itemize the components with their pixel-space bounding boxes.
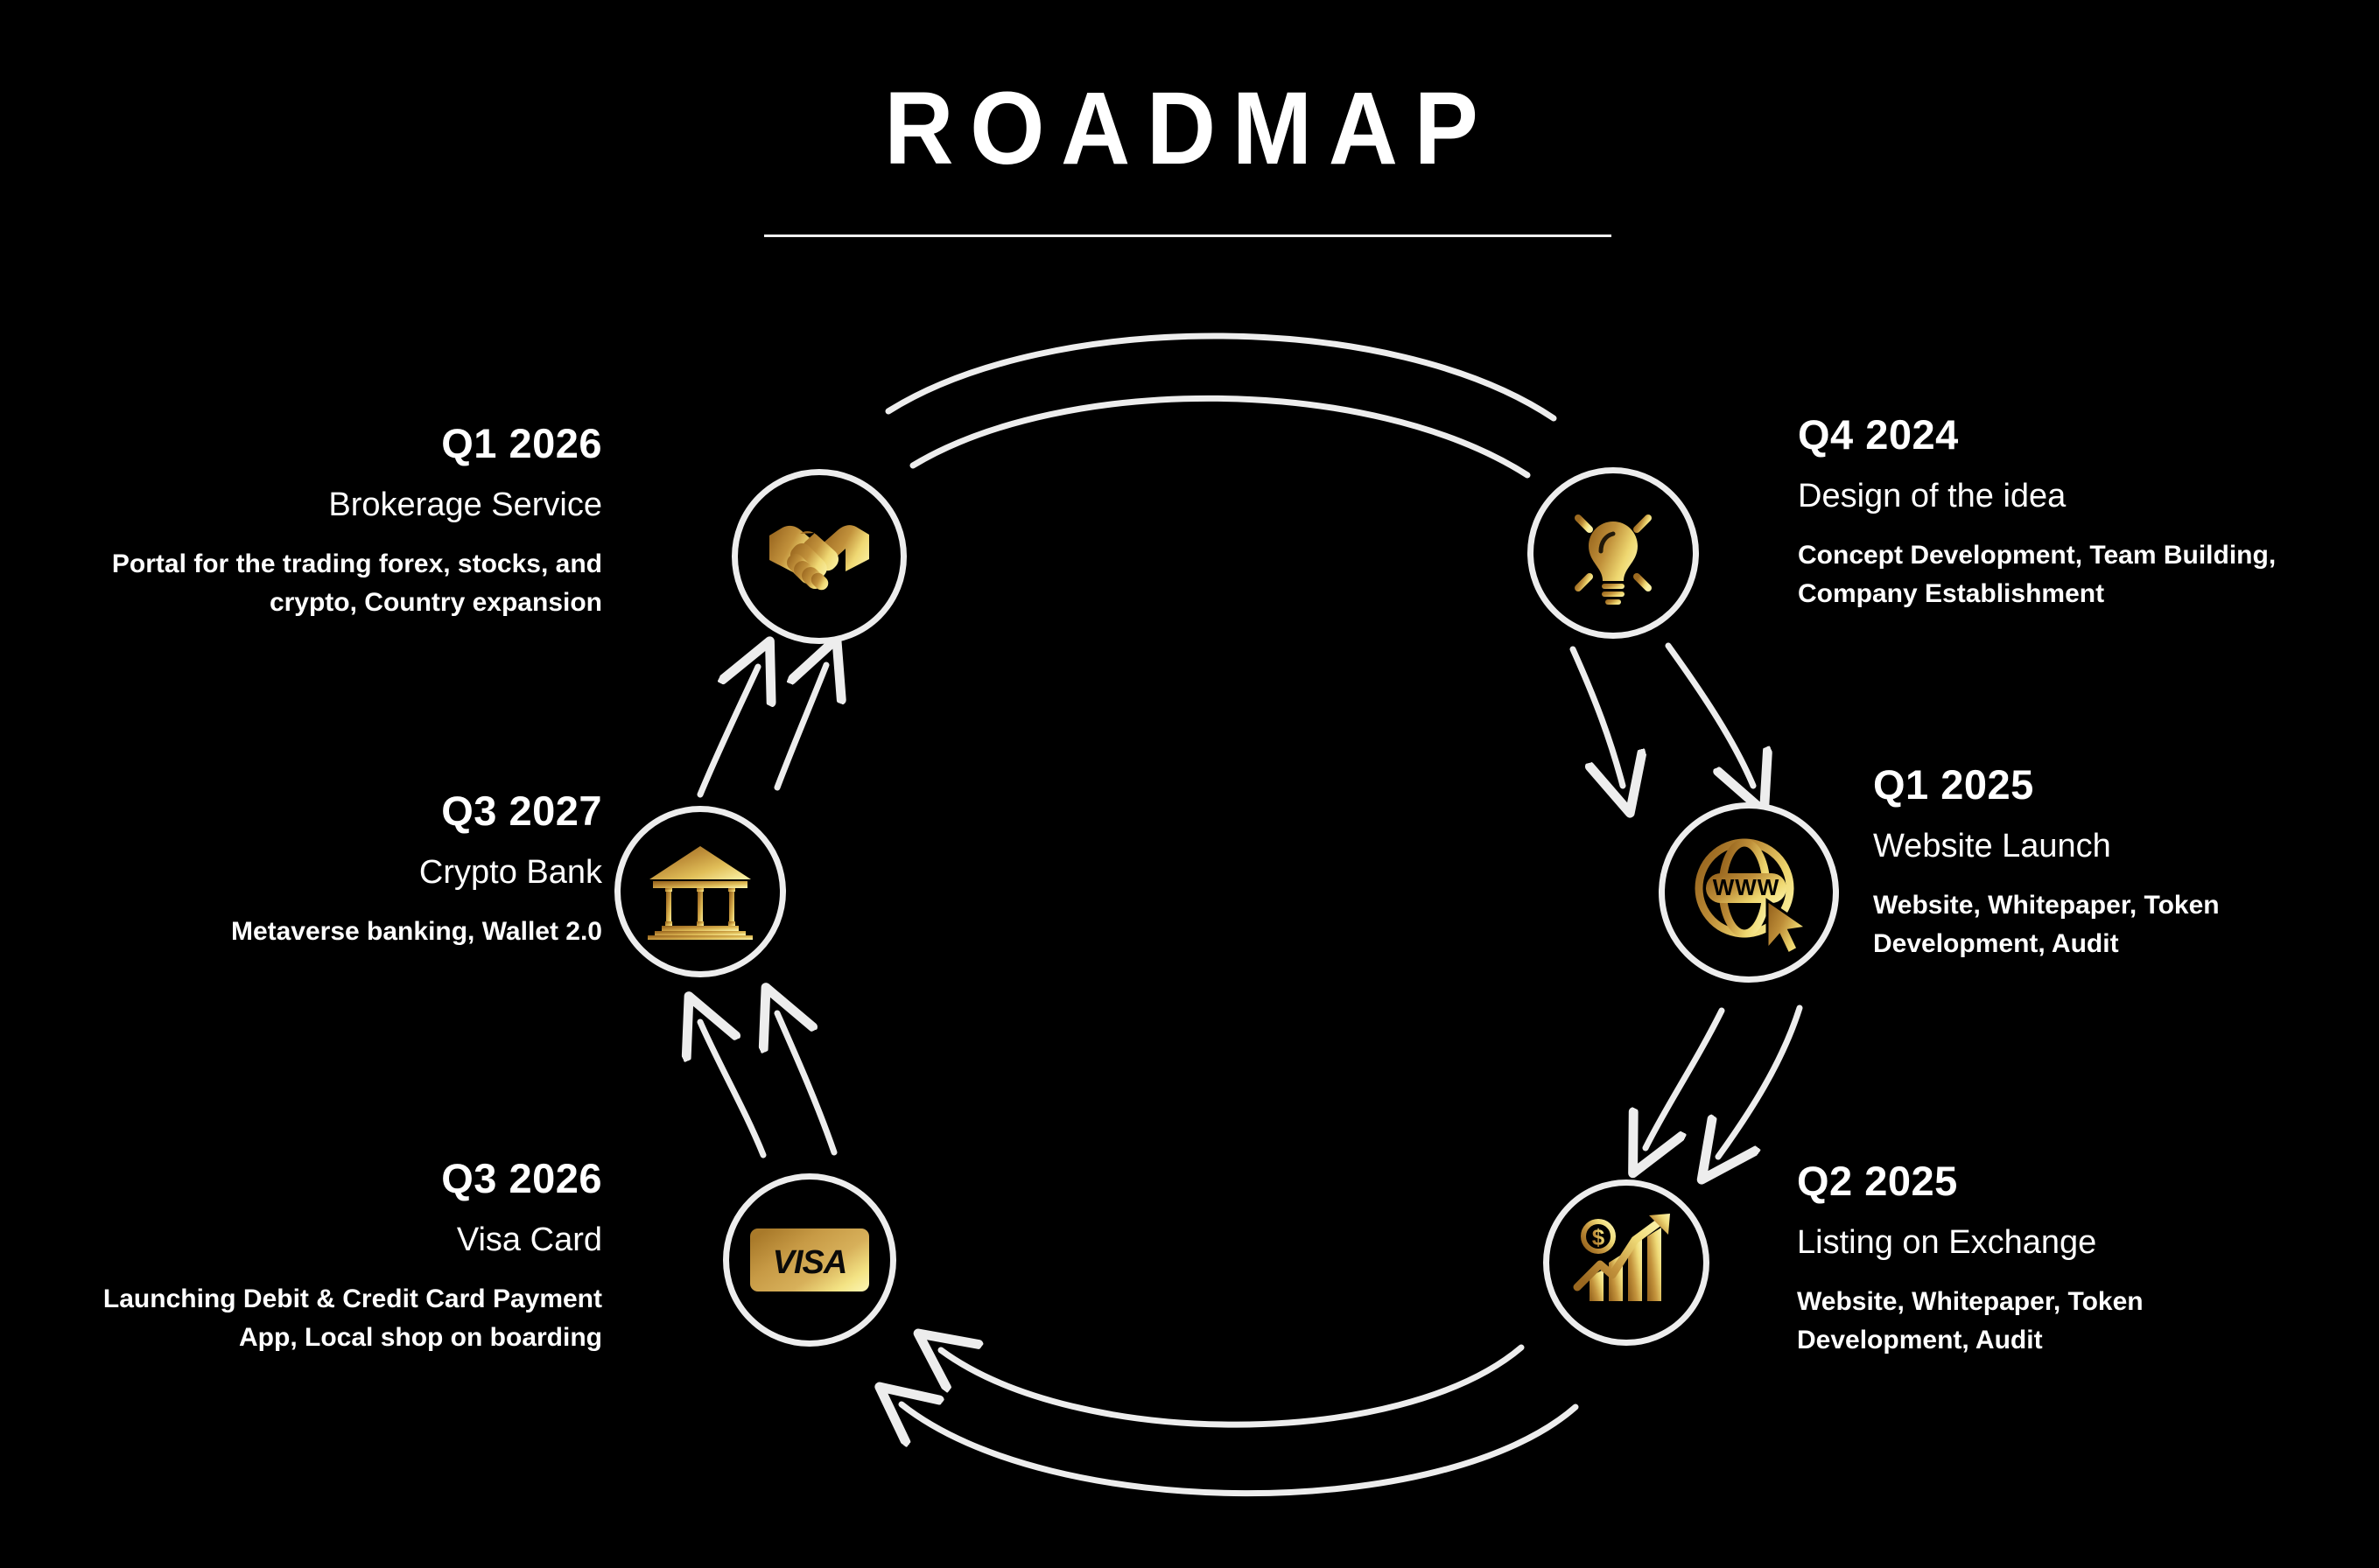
globe-www-label: WWW [1713, 874, 1780, 900]
globe-www-cursor-icon: WWW [1683, 827, 1814, 958]
quarter-label-q3-2026: Q3 2026 [51, 1157, 602, 1200]
quarter-label-q1-2025: Q1 2025 [1873, 763, 2363, 806]
arrow-visa-bank-1 [700, 1022, 763, 1155]
details-q3-2026: Launching Debit & Credit Card Payment Ap… [51, 1280, 602, 1356]
arrow-bulb-globe-2 [1668, 646, 1753, 786]
text-block-q3-2027: Q3 2027 Crypto Bank Metaverse banking, W… [51, 789, 602, 951]
text-block-q1-2026: Q1 2026 Brokerage Service Portal for the… [51, 422, 602, 621]
arc-bottom-inner [941, 1347, 1521, 1424]
arrow-bulb-globe-1 [1573, 649, 1623, 786]
quarter-label-q1-2026: Q1 2026 [51, 422, 602, 465]
milestone-node-q1-2025[interactable]: WWW [1659, 802, 1839, 983]
subtitle-q3-2026: Visa Card [51, 1222, 602, 1259]
milestone-node-q3-2026[interactable]: VISA [723, 1173, 896, 1347]
visa-card-icon: VISA [750, 1228, 869, 1291]
details-q1-2026: Portal for the trading forex, stocks, an… [51, 545, 602, 621]
visa-wordmark: VISA [773, 1244, 847, 1281]
text-block-q3-2026: Q3 2026 Visa Card Launching Debit & Cred… [51, 1157, 602, 1356]
lightbulb-icon [1557, 497, 1669, 609]
details-q2-2025: Website, Whitepaper, Token Development, … [1797, 1283, 2287, 1359]
text-block-q2-2025: Q2 2025 Listing on Exchange Website, Whi… [1797, 1159, 2287, 1359]
subtitle-q2-2025: Listing on Exchange [1797, 1225, 2287, 1262]
milestone-node-q1-2026[interactable] [732, 469, 907, 644]
details-q1-2025: Website, Whitepaper, Token Development, … [1873, 886, 2363, 962]
arrow-visa-bank-2 [777, 1013, 834, 1152]
arc-top-outer [888, 336, 1554, 418]
text-block-q1-2025: Q1 2025 Website Launch Website, Whitepap… [1873, 763, 2363, 962]
text-block-q4-2024: Q4 2024 Design of the idea Concept Devel… [1798, 413, 2358, 612]
milestone-node-q3-2027[interactable] [614, 806, 786, 977]
subtitle-q1-2026: Brokerage Service [51, 487, 602, 524]
subtitle-q3-2027: Crypto Bank [51, 855, 602, 892]
arrow-globe-chart-2 [1718, 1008, 1800, 1157]
milestone-node-q4-2024[interactable] [1527, 467, 1699, 639]
coin-dollar-label: $ [1592, 1224, 1605, 1250]
growth-chart-icon: $ [1574, 1214, 1679, 1312]
arc-top-inner [913, 398, 1527, 475]
arrow-globe-chart-1 [1646, 1011, 1722, 1148]
details-q3-2027: Metaverse banking, Wallet 2.0 [51, 913, 602, 951]
arrow-bank-handshake-2 [777, 665, 826, 787]
quarter-label-q2-2025: Q2 2025 [1797, 1159, 2287, 1202]
subtitle-q1-2025: Website Launch [1873, 829, 2363, 865]
arrow-bank-handshake-1 [700, 667, 758, 794]
handshake-icon [767, 518, 872, 595]
details-q4-2024: Concept Development, Team Building, Comp… [1798, 536, 2358, 612]
quarter-label-q3-2027: Q3 2027 [51, 789, 602, 832]
bank-building-icon [646, 843, 754, 941]
subtitle-q4-2024: Design of the idea [1798, 479, 2358, 515]
quarter-label-q4-2024: Q4 2024 [1798, 413, 2358, 456]
arc-bottom-outer [902, 1404, 1575, 1494]
milestone-node-q2-2025[interactable]: $ [1543, 1179, 1709, 1346]
